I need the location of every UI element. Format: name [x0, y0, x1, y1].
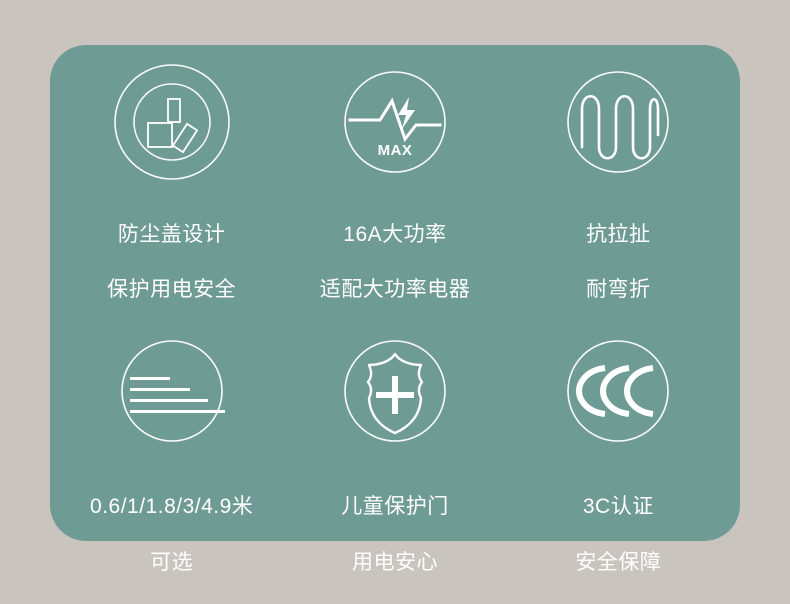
shield-protection-icon — [336, 332, 454, 450]
max-label: MAX — [378, 142, 413, 159]
caption-line: 用电安心 — [341, 549, 449, 577]
caption-line: 儿童保护门 — [341, 493, 449, 521]
caption-line: 耐弯折 — [586, 276, 651, 304]
feature-caption: 0.6/1/1.8/3/4.9米 可选 — [90, 466, 253, 604]
feature-item-child-protection: 儿童保护门 用电安心 — [283, 332, 506, 604]
caption-line: 可选 — [90, 549, 253, 577]
feature-item-dust-cover: 防尘盖设计 保护用电安全 — [60, 63, 283, 332]
caption-line: 保护用电安全 — [107, 276, 236, 304]
caption-line: 0.6/1/1.8/3/4.9米 — [90, 493, 253, 521]
spring-coil-icon — [559, 63, 677, 181]
feature-card: 防尘盖设计 保护用电安全 MAX 16A大功率 适配大功率电器 — [50, 45, 740, 541]
feature-item-cable-lengths: 0.6/1/1.8/3/4.9米 可选 — [60, 332, 283, 604]
feature-grid: 防尘盖设计 保护用电安全 MAX 16A大功率 适配大功率电器 — [50, 45, 740, 541]
three-c-certification-icon — [559, 332, 677, 450]
feature-caption: 防尘盖设计 保护用电安全 — [107, 193, 236, 332]
feature-caption: 儿童保护门 用电安心 — [341, 466, 449, 604]
max-power-waveform-icon: MAX — [336, 63, 454, 181]
feature-item-spring: 抗拉扯 耐弯折 — [507, 63, 730, 332]
caption-line: 3C认证 — [575, 493, 661, 521]
feature-item-3c-certification: 3C认证 安全保障 — [507, 332, 730, 604]
feature-caption: 16A大功率 适配大功率电器 — [320, 193, 471, 332]
dust-cover-socket-icon — [113, 63, 231, 181]
caption-line: 防尘盖设计 — [107, 221, 236, 249]
feature-caption: 3C认证 安全保障 — [575, 466, 661, 604]
feature-caption: 抗拉扯 耐弯折 — [586, 193, 651, 332]
caption-line: 安全保障 — [575, 549, 661, 577]
product-feature-poster: 防尘盖设计 保护用电安全 MAX 16A大功率 适配大功率电器 — [0, 0, 790, 587]
cable-lengths-icon — [113, 332, 231, 450]
caption-line: 16A大功率 — [320, 221, 471, 249]
caption-line: 适配大功率电器 — [320, 276, 471, 304]
feature-item-max-power: MAX 16A大功率 适配大功率电器 — [283, 63, 506, 332]
caption-line: 抗拉扯 — [586, 221, 651, 249]
